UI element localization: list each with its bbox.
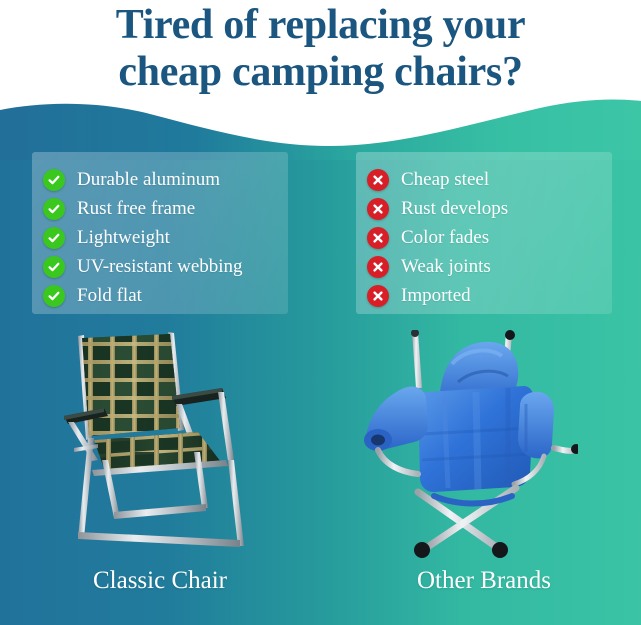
list-item: Cheap steel <box>367 165 612 194</box>
cross-circle-icon <box>367 198 389 220</box>
list-item: Weak joints <box>367 252 612 281</box>
feature-label: UV-resistant webbing <box>77 256 243 278</box>
list-item: Rust develops <box>367 194 612 223</box>
list-item: UV-resistant webbing <box>43 252 288 281</box>
classic-chair-caption: Classic Chair <box>32 566 288 596</box>
headline-line-2: cheap camping chairs? <box>0 49 641 96</box>
feature-label: Durable aluminum <box>77 169 220 191</box>
cons-panel: Cheap steel Rust develops Color fades We… <box>356 152 612 314</box>
classic-chair-image <box>58 332 273 560</box>
other-brands-chair-image <box>348 330 578 562</box>
feature-label: Weak joints <box>401 256 491 278</box>
pros-panel: Durable aluminum Rust free frame Lightwe… <box>32 152 288 314</box>
list-item: Color fades <box>367 223 612 252</box>
check-circle-icon <box>43 285 65 307</box>
feature-label: Rust develops <box>401 198 508 220</box>
check-circle-icon <box>43 256 65 278</box>
check-circle-icon <box>43 169 65 191</box>
feature-label: Color fades <box>401 227 489 249</box>
list-item: Fold flat <box>43 281 288 310</box>
cross-circle-icon <box>367 227 389 249</box>
cross-circle-icon <box>367 169 389 191</box>
feature-label: Fold flat <box>77 285 142 307</box>
list-item: Lightweight <box>43 223 288 252</box>
feature-label: Rust free frame <box>77 198 195 220</box>
list-item: Rust free frame <box>43 194 288 223</box>
check-circle-icon <box>43 227 65 249</box>
feature-label: Imported <box>401 285 471 307</box>
infographic-canvas: Tired of replacing your cheap camping ch… <box>0 0 641 625</box>
page-title: Tired of replacing your cheap camping ch… <box>0 2 641 96</box>
check-circle-icon <box>43 198 65 220</box>
comparison-panels: Durable aluminum Rust free frame Lightwe… <box>0 152 641 314</box>
cross-circle-icon <box>367 285 389 307</box>
feature-label: Lightweight <box>77 227 170 249</box>
list-item: Durable aluminum <box>43 165 288 194</box>
feature-label: Cheap steel <box>401 169 489 191</box>
other-brands-caption: Other Brands <box>356 566 612 596</box>
headline-line-1: Tired of replacing your <box>0 2 641 49</box>
cross-circle-icon <box>367 256 389 278</box>
list-item: Imported <box>367 281 612 310</box>
